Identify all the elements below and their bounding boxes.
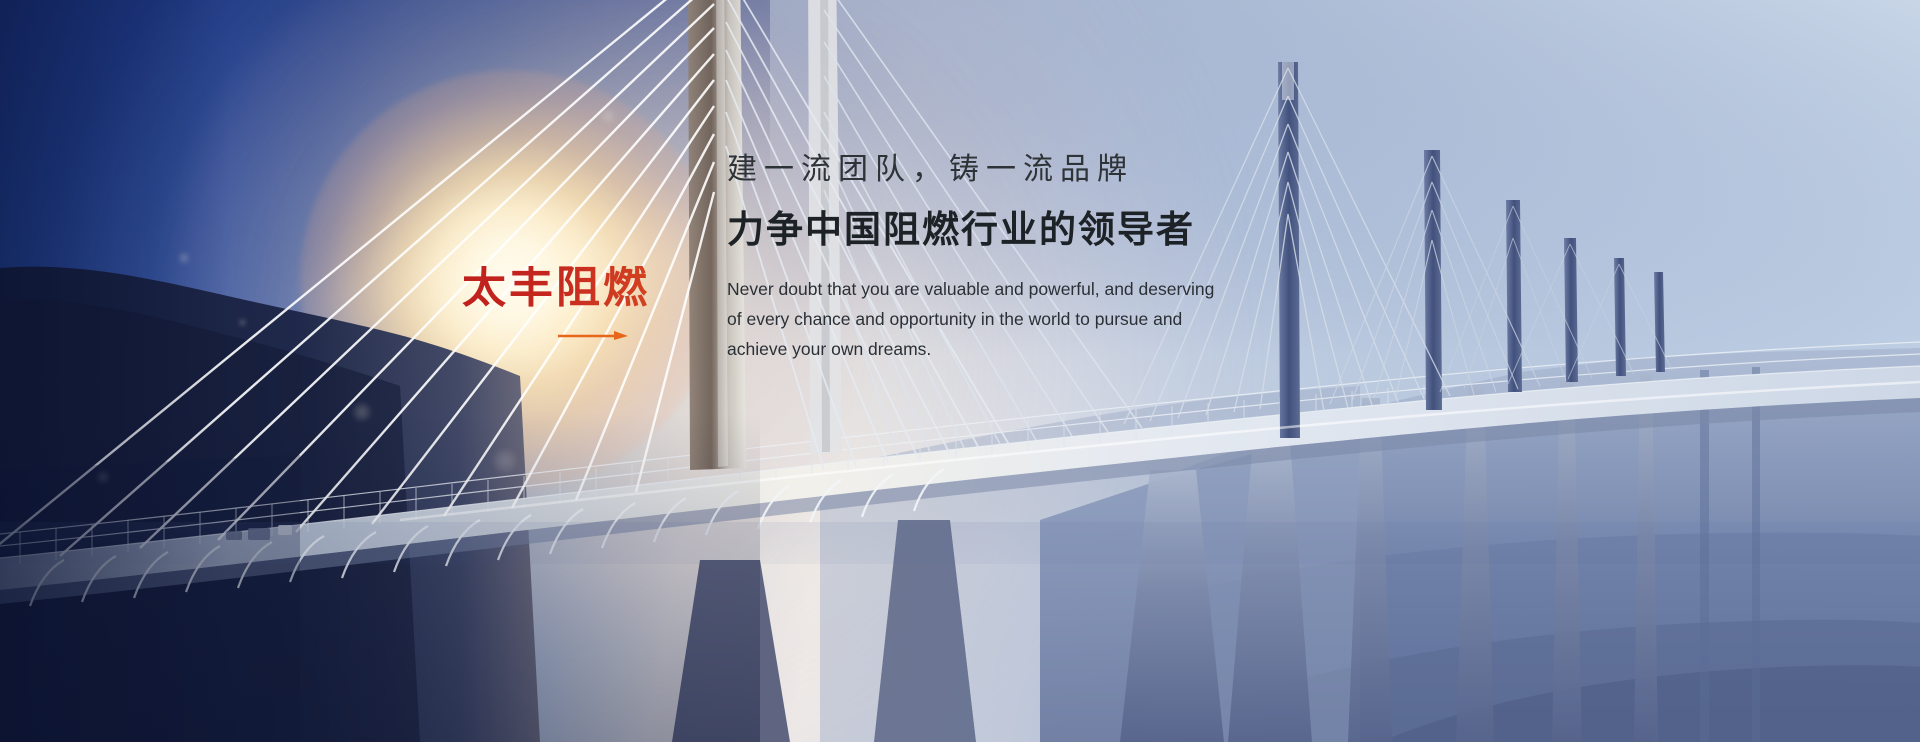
headline-title: 力争中国阻燃行业的领导者	[727, 207, 1367, 253]
brand-logo-text: 太丰阻燃	[462, 266, 662, 310]
banner-description: Never doubt that you are valuable and po…	[727, 274, 1197, 364]
description-line-1: Never doubt that you are valuable and po…	[727, 274, 1197, 304]
hero-banner: 太丰阻燃 建一流团队，铸一流品牌 力争中国阻燃行业的领导者 Never doub…	[0, 0, 1920, 742]
banner-content: 太丰阻燃 建一流团队，铸一流品牌 力争中国阻燃行业的领导者 Never doub…	[0, 0, 1920, 742]
arrow-right-icon	[558, 328, 628, 342]
brand-logo[interactable]: 太丰阻燃	[462, 266, 662, 310]
headline-subtitle: 建一流团队，铸一流品牌	[727, 150, 1367, 189]
description-line-3: achieve your own dreams.	[727, 334, 1197, 364]
banner-copy: 建一流团队，铸一流品牌 力争中国阻燃行业的领导者 Never doubt tha…	[727, 150, 1367, 365]
description-line-2: of every chance and opportunity in the w…	[727, 304, 1197, 334]
